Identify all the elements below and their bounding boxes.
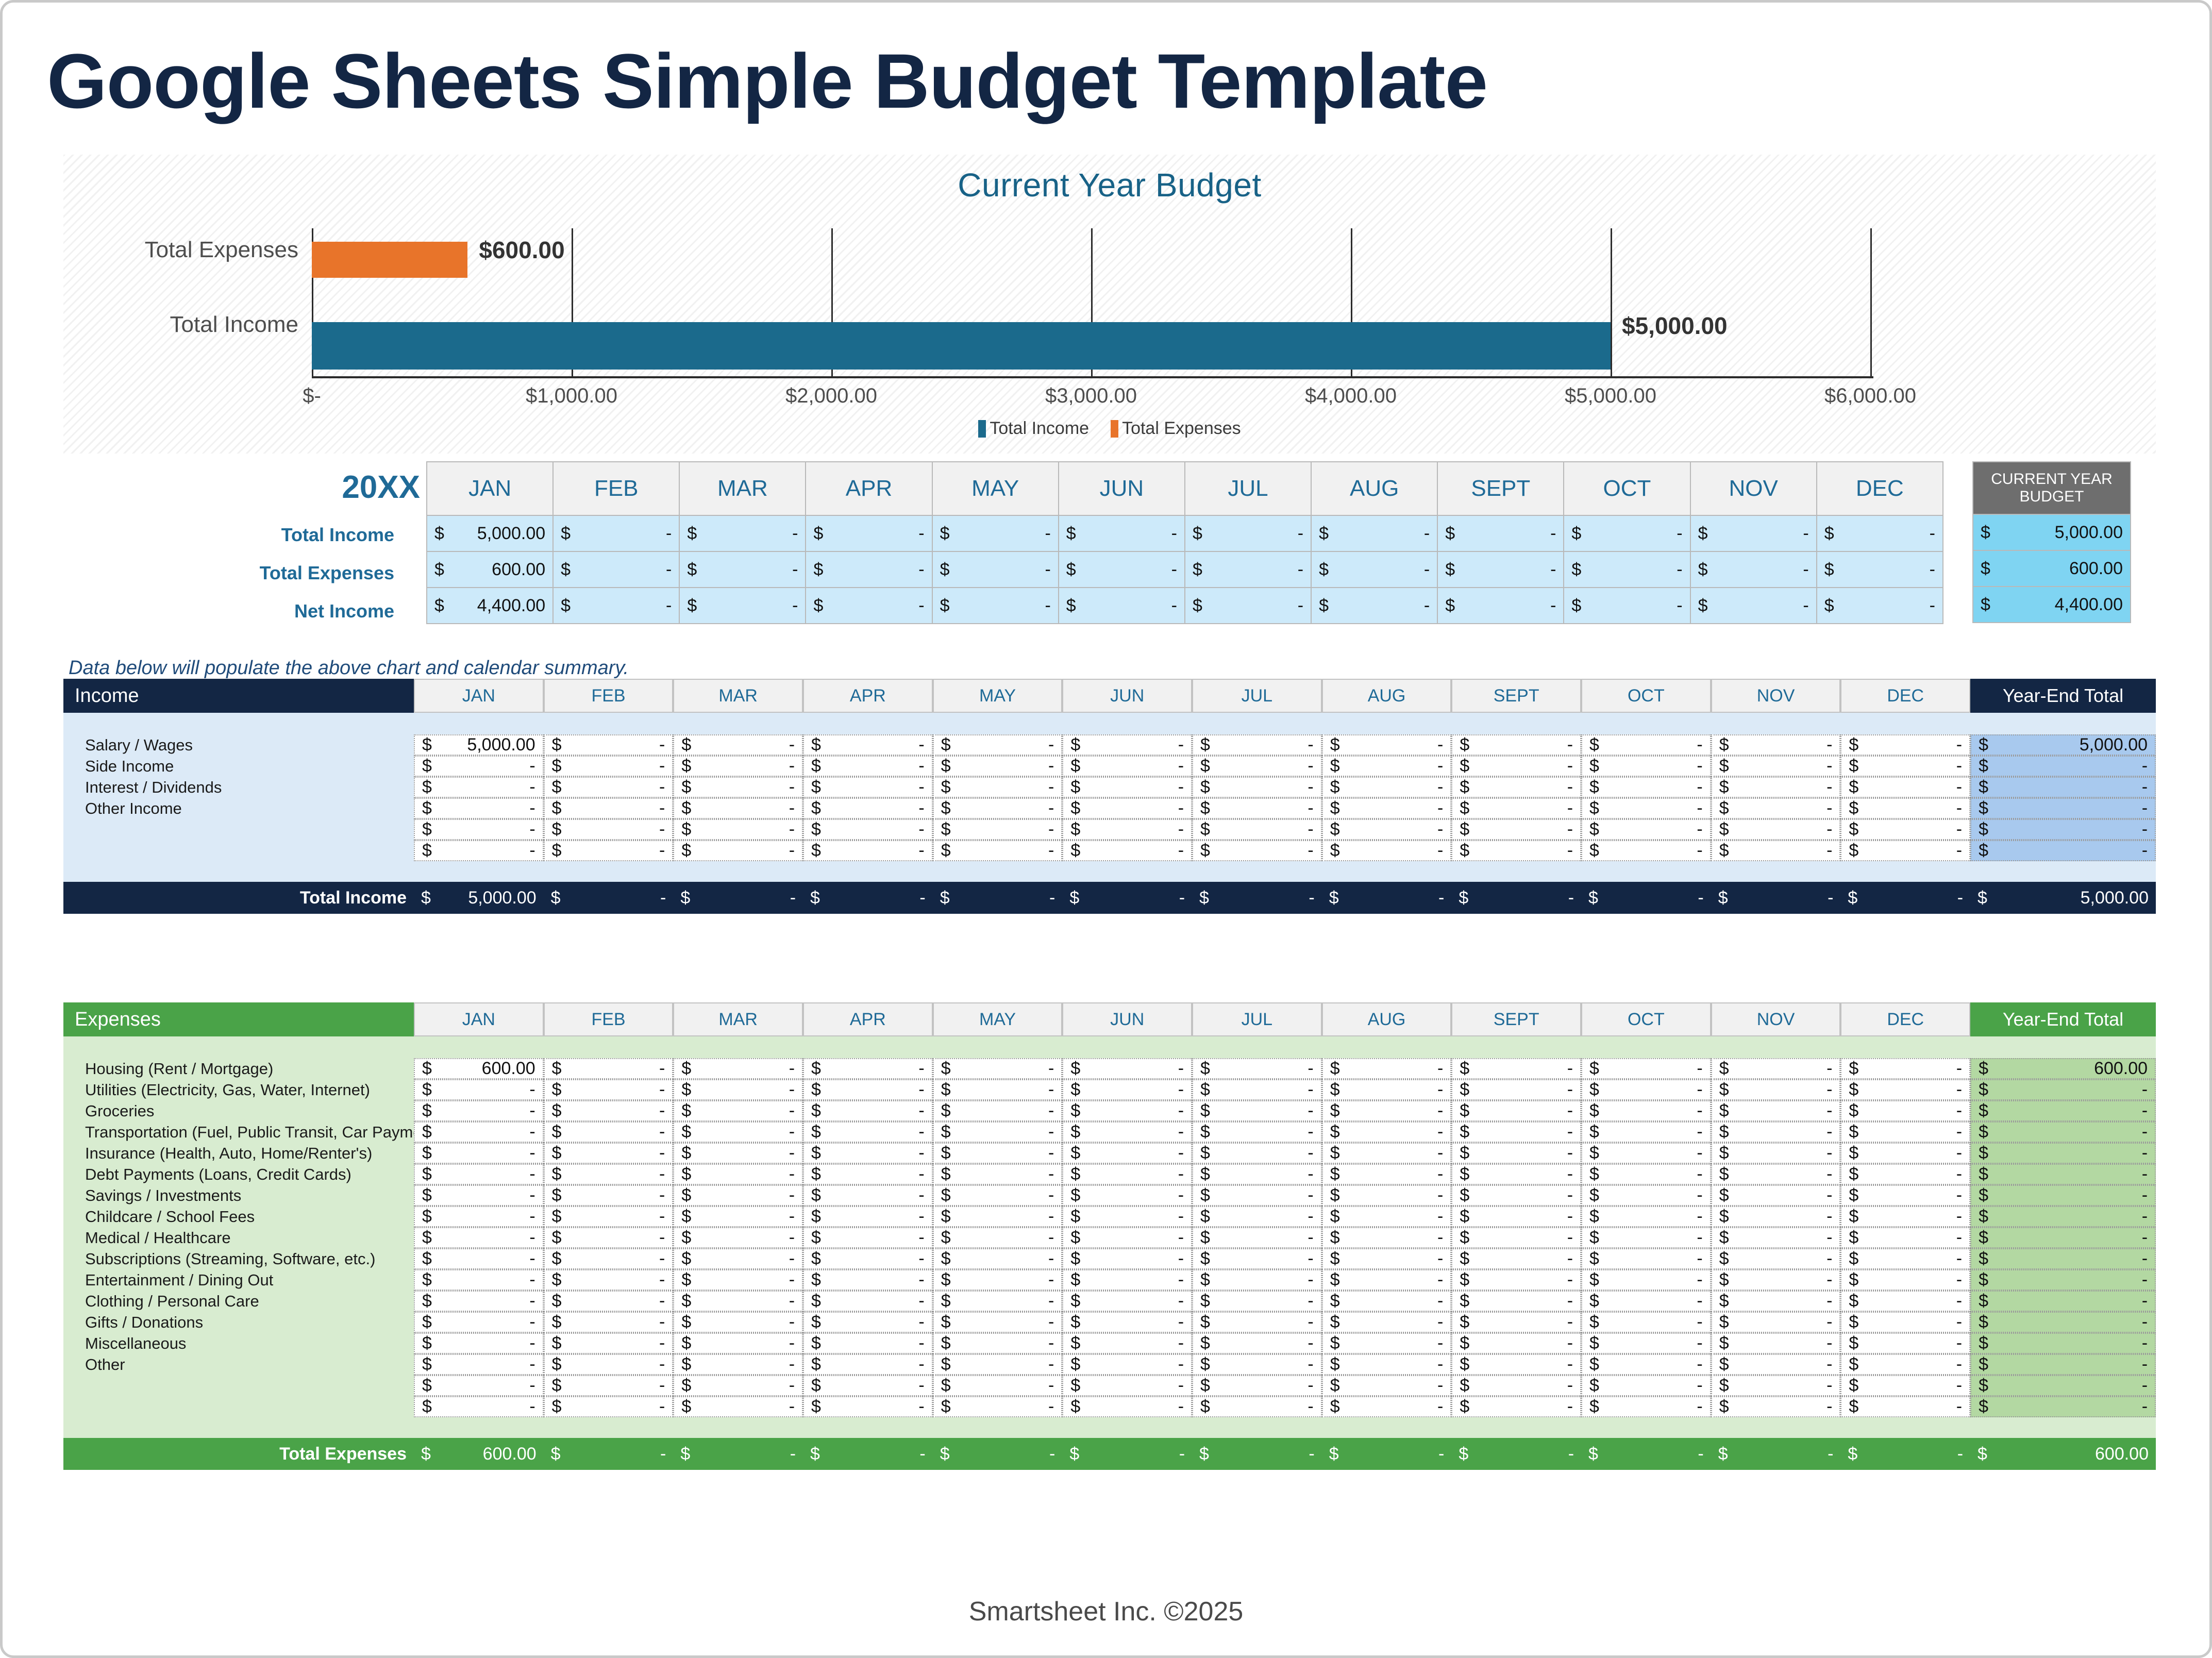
- summary-cell[interactable]: $-: [1437, 551, 1564, 588]
- expenses-month-cell[interactable]: $-: [673, 1206, 803, 1227]
- expenses-month-cell[interactable]: $-: [544, 1312, 674, 1333]
- summary-cell[interactable]: $-: [1817, 551, 1943, 588]
- expenses-month-cell[interactable]: $-: [933, 1333, 1063, 1354]
- expenses-month-cell[interactable]: $-: [414, 1248, 544, 1269]
- income-month-cell[interactable]: $-: [1451, 756, 1581, 777]
- expenses-month-cell[interactable]: $-: [1322, 1058, 1452, 1079]
- expenses-month-cell[interactable]: $-: [1451, 1312, 1581, 1333]
- expenses-month-cell[interactable]: $-: [673, 1291, 803, 1312]
- summary-cell[interactable]: $-: [1817, 515, 1943, 551]
- summary-cell[interactable]: $5,000.00: [427, 515, 553, 551]
- expenses-month-cell[interactable]: $-: [673, 1143, 803, 1164]
- expenses-month-cell[interactable]: $-: [803, 1269, 933, 1291]
- expenses-month-cell[interactable]: $-: [544, 1206, 674, 1227]
- expenses-month-cell[interactable]: $-: [1062, 1121, 1192, 1143]
- expenses-month-cell[interactable]: $-: [803, 1396, 933, 1417]
- expenses-month-cell[interactable]: $-: [1711, 1248, 1841, 1269]
- expenses-month-cell[interactable]: $-: [1062, 1333, 1192, 1354]
- expenses-month-cell[interactable]: $-: [1581, 1333, 1711, 1354]
- expenses-month-cell[interactable]: $-: [803, 1206, 933, 1227]
- income-month-cell[interactable]: $-: [1192, 756, 1322, 777]
- expenses-month-cell[interactable]: $-: [1322, 1227, 1452, 1248]
- expenses-month-cell[interactable]: $-: [673, 1354, 803, 1375]
- expenses-month-cell[interactable]: $-: [1451, 1227, 1581, 1248]
- summary-cell[interactable]: $-: [679, 551, 806, 588]
- summary-cell[interactable]: $-: [1564, 588, 1690, 624]
- expenses-month-cell[interactable]: $-: [1192, 1164, 1322, 1185]
- expenses-month-cell[interactable]: $-: [544, 1121, 674, 1143]
- expenses-month-cell[interactable]: $-: [1451, 1375, 1581, 1396]
- income-month-cell[interactable]: $-: [1062, 798, 1192, 819]
- income-month-cell[interactable]: $-: [1322, 777, 1452, 798]
- expenses-month-cell[interactable]: $-: [1840, 1143, 1970, 1164]
- expenses-month-cell[interactable]: $-: [1322, 1248, 1452, 1269]
- expenses-month-cell[interactable]: $-: [673, 1312, 803, 1333]
- expenses-month-cell[interactable]: $-: [1581, 1312, 1711, 1333]
- expenses-month-cell[interactable]: $-: [544, 1227, 674, 1248]
- expenses-month-cell[interactable]: $-: [933, 1079, 1063, 1100]
- expenses-month-cell[interactable]: $-: [1711, 1143, 1841, 1164]
- summary-cell[interactable]: $-: [1059, 515, 1185, 551]
- income-month-cell[interactable]: $-: [1711, 756, 1841, 777]
- expenses-month-cell[interactable]: $-: [1192, 1121, 1322, 1143]
- expenses-month-cell[interactable]: $-: [1322, 1100, 1452, 1121]
- income-month-cell[interactable]: $-: [1322, 798, 1452, 819]
- expenses-month-cell[interactable]: $-: [414, 1269, 544, 1291]
- income-month-cell[interactable]: $-: [673, 756, 803, 777]
- expenses-month-cell[interactable]: $-: [1451, 1269, 1581, 1291]
- income-month-cell[interactable]: $-: [673, 777, 803, 798]
- income-month-cell[interactable]: $-: [1840, 734, 1970, 756]
- expenses-month-cell[interactable]: $-: [1581, 1079, 1711, 1100]
- summary-cell[interactable]: $-: [679, 588, 806, 624]
- summary-cell[interactable]: $-: [1564, 551, 1690, 588]
- expenses-month-cell[interactable]: $-: [1322, 1354, 1452, 1375]
- summary-cell[interactable]: $-: [1311, 515, 1437, 551]
- summary-cell[interactable]: $-: [1437, 515, 1564, 551]
- expenses-month-cell[interactable]: $-: [933, 1312, 1063, 1333]
- expenses-month-cell[interactable]: $-: [1840, 1375, 1970, 1396]
- expenses-month-cell[interactable]: $-: [1062, 1206, 1192, 1227]
- expenses-month-cell[interactable]: $-: [1062, 1143, 1192, 1164]
- expenses-month-cell[interactable]: $-: [1192, 1079, 1322, 1100]
- expenses-month-cell[interactable]: $-: [1192, 1291, 1322, 1312]
- income-month-cell[interactable]: $-: [544, 819, 674, 840]
- income-month-cell[interactable]: $-: [933, 756, 1063, 777]
- summary-cell[interactable]: $-: [932, 551, 1059, 588]
- expenses-month-cell[interactable]: $-: [1581, 1269, 1711, 1291]
- income-month-cell[interactable]: $-: [1192, 840, 1322, 861]
- income-month-cell[interactable]: $-: [1451, 777, 1581, 798]
- expenses-month-cell[interactable]: $-: [933, 1185, 1063, 1206]
- income-month-cell[interactable]: $-: [803, 756, 933, 777]
- expenses-month-cell[interactable]: $-: [803, 1354, 933, 1375]
- income-month-cell[interactable]: $-: [1322, 840, 1452, 861]
- expenses-month-cell[interactable]: $-: [1711, 1227, 1841, 1248]
- income-month-cell[interactable]: $-: [1840, 798, 1970, 819]
- expenses-month-cell[interactable]: $-: [1192, 1248, 1322, 1269]
- income-month-cell[interactable]: $-: [1581, 840, 1711, 861]
- expenses-month-cell[interactable]: $-: [1192, 1333, 1322, 1354]
- income-month-cell[interactable]: $-: [1192, 819, 1322, 840]
- expenses-month-cell[interactable]: $-: [414, 1354, 544, 1375]
- expenses-month-cell[interactable]: $-: [414, 1185, 544, 1206]
- expenses-month-cell[interactable]: $-: [803, 1248, 933, 1269]
- expenses-month-cell[interactable]: $-: [1581, 1143, 1711, 1164]
- summary-cell[interactable]: $-: [679, 515, 806, 551]
- expenses-month-cell[interactable]: $-: [1322, 1079, 1452, 1100]
- expenses-month-cell[interactable]: $-: [1840, 1312, 1970, 1333]
- income-month-cell[interactable]: $-: [1840, 819, 1970, 840]
- income-month-cell[interactable]: $-: [1581, 819, 1711, 840]
- expenses-month-cell[interactable]: $-: [1322, 1164, 1452, 1185]
- expenses-month-cell[interactable]: $-: [1451, 1058, 1581, 1079]
- expenses-month-cell[interactable]: $-: [803, 1143, 933, 1164]
- expenses-month-cell[interactable]: $-: [1711, 1291, 1841, 1312]
- expenses-month-cell[interactable]: $-: [933, 1227, 1063, 1248]
- income-month-cell[interactable]: $-: [933, 819, 1063, 840]
- expenses-month-cell[interactable]: $-: [1322, 1185, 1452, 1206]
- expenses-month-cell[interactable]: $-: [1322, 1312, 1452, 1333]
- expenses-month-cell[interactable]: $-: [414, 1100, 544, 1121]
- income-month-cell[interactable]: $-: [803, 840, 933, 861]
- income-month-cell[interactable]: $-: [1840, 840, 1970, 861]
- expenses-month-cell[interactable]: $-: [544, 1396, 674, 1417]
- expenses-month-cell[interactable]: $-: [1711, 1164, 1841, 1185]
- expenses-month-cell[interactable]: $-: [544, 1164, 674, 1185]
- summary-cell[interactable]: $-: [1690, 588, 1817, 624]
- summary-cell[interactable]: $-: [1311, 588, 1437, 624]
- summary-cell[interactable]: $-: [553, 588, 679, 624]
- expenses-month-cell[interactable]: $-: [1581, 1164, 1711, 1185]
- expenses-month-cell[interactable]: $-: [1451, 1121, 1581, 1143]
- expenses-month-cell[interactable]: $-: [1840, 1100, 1970, 1121]
- income-month-cell[interactable]: $-: [803, 819, 933, 840]
- expenses-month-cell[interactable]: $-: [673, 1396, 803, 1417]
- income-month-cell[interactable]: $-: [1840, 756, 1970, 777]
- expenses-month-cell[interactable]: $-: [1840, 1291, 1970, 1312]
- expenses-month-cell[interactable]: $-: [1451, 1185, 1581, 1206]
- income-month-cell[interactable]: $-: [1840, 777, 1970, 798]
- expenses-month-cell[interactable]: $-: [673, 1227, 803, 1248]
- expenses-month-cell[interactable]: $-: [1062, 1396, 1192, 1417]
- expenses-month-cell[interactable]: $-: [1062, 1312, 1192, 1333]
- expenses-month-cell[interactable]: $-: [933, 1375, 1063, 1396]
- expenses-month-cell[interactable]: $-: [544, 1248, 674, 1269]
- expenses-month-cell[interactable]: $-: [414, 1143, 544, 1164]
- summary-cell[interactable]: $-: [553, 551, 679, 588]
- expenses-month-cell[interactable]: $-: [803, 1058, 933, 1079]
- summary-cell[interactable]: $-: [1564, 515, 1690, 551]
- expenses-month-cell[interactable]: $-: [1711, 1121, 1841, 1143]
- income-month-cell[interactable]: $-: [414, 840, 544, 861]
- expenses-month-cell[interactable]: $-: [544, 1333, 674, 1354]
- expenses-month-cell[interactable]: $-: [414, 1396, 544, 1417]
- income-month-cell[interactable]: $-: [1711, 798, 1841, 819]
- expenses-month-cell[interactable]: $-: [803, 1375, 933, 1396]
- summary-cell[interactable]: $-: [1437, 588, 1564, 624]
- expenses-month-cell[interactable]: $-: [414, 1227, 544, 1248]
- income-month-cell[interactable]: $-: [414, 777, 544, 798]
- summary-cell[interactable]: $-: [1059, 588, 1185, 624]
- expenses-month-cell[interactable]: $-: [1581, 1100, 1711, 1121]
- expenses-month-cell[interactable]: $-: [544, 1269, 674, 1291]
- income-month-cell[interactable]: $-: [1062, 734, 1192, 756]
- summary-cell[interactable]: $-: [1817, 588, 1943, 624]
- income-month-cell[interactable]: $-: [803, 777, 933, 798]
- expenses-month-cell[interactable]: $-: [414, 1375, 544, 1396]
- summary-cell[interactable]: $-: [1185, 551, 1311, 588]
- expenses-month-cell[interactable]: $-: [673, 1375, 803, 1396]
- expenses-month-cell[interactable]: $-: [1840, 1227, 1970, 1248]
- expenses-month-cell[interactable]: $-: [1711, 1100, 1841, 1121]
- expenses-month-cell[interactable]: $-: [803, 1333, 933, 1354]
- expenses-month-cell[interactable]: $-: [544, 1354, 674, 1375]
- expenses-month-cell[interactable]: $-: [1451, 1396, 1581, 1417]
- expenses-month-cell[interactable]: $-: [1840, 1248, 1970, 1269]
- expenses-month-cell[interactable]: $-: [673, 1333, 803, 1354]
- expenses-month-cell[interactable]: $-: [1840, 1333, 1970, 1354]
- expenses-month-cell[interactable]: $-: [414, 1079, 544, 1100]
- expenses-month-cell[interactable]: $-: [1062, 1079, 1192, 1100]
- expenses-month-cell[interactable]: $-: [1192, 1058, 1322, 1079]
- expenses-month-cell[interactable]: $-: [544, 1100, 674, 1121]
- expenses-month-cell[interactable]: $-: [1192, 1396, 1322, 1417]
- income-month-cell[interactable]: $-: [1192, 734, 1322, 756]
- income-month-cell[interactable]: $-: [1062, 819, 1192, 840]
- expenses-month-cell[interactable]: $-: [414, 1333, 544, 1354]
- summary-cell[interactable]: $600.00: [427, 551, 553, 588]
- expenses-month-cell[interactable]: $-: [1451, 1164, 1581, 1185]
- income-month-cell[interactable]: $-: [1062, 777, 1192, 798]
- expenses-month-cell[interactable]: $-: [1322, 1375, 1452, 1396]
- expenses-month-cell[interactable]: $-: [544, 1058, 674, 1079]
- income-month-cell[interactable]: $-: [1451, 840, 1581, 861]
- expenses-month-cell[interactable]: $-: [803, 1185, 933, 1206]
- income-month-cell[interactable]: $-: [1581, 777, 1711, 798]
- expenses-month-cell[interactable]: $-: [1840, 1396, 1970, 1417]
- income-month-cell[interactable]: $-: [933, 777, 1063, 798]
- expenses-month-cell[interactable]: $-: [1581, 1248, 1711, 1269]
- expenses-month-cell[interactable]: $-: [1322, 1269, 1452, 1291]
- income-month-cell[interactable]: $-: [673, 840, 803, 861]
- expenses-month-cell[interactable]: $-: [933, 1206, 1063, 1227]
- income-month-cell[interactable]: $-: [1581, 734, 1711, 756]
- expenses-month-cell[interactable]: $-: [673, 1185, 803, 1206]
- expenses-month-cell[interactable]: $-: [1581, 1058, 1711, 1079]
- expenses-month-cell[interactable]: $-: [544, 1079, 674, 1100]
- expenses-month-cell[interactable]: $-: [544, 1185, 674, 1206]
- expenses-month-cell[interactable]: $-: [1451, 1291, 1581, 1312]
- expenses-month-cell[interactable]: $-: [803, 1164, 933, 1185]
- expenses-month-cell[interactable]: $-: [1322, 1121, 1452, 1143]
- expenses-month-cell[interactable]: $-: [1711, 1333, 1841, 1354]
- income-month-cell[interactable]: $-: [414, 819, 544, 840]
- expenses-month-cell[interactable]: $-: [1581, 1375, 1711, 1396]
- income-month-cell[interactable]: $-: [1451, 819, 1581, 840]
- expenses-month-cell[interactable]: $-: [1581, 1396, 1711, 1417]
- summary-cell[interactable]: $-: [1690, 551, 1817, 588]
- expenses-month-cell[interactable]: $-: [1711, 1058, 1841, 1079]
- expenses-month-cell[interactable]: $-: [933, 1121, 1063, 1143]
- expenses-month-cell[interactable]: $-: [933, 1354, 1063, 1375]
- income-month-cell[interactable]: $-: [1062, 840, 1192, 861]
- expenses-month-cell[interactable]: $-: [933, 1164, 1063, 1185]
- expenses-month-cell[interactable]: $-: [673, 1248, 803, 1269]
- expenses-month-cell[interactable]: $-: [414, 1121, 544, 1143]
- summary-cell[interactable]: $-: [932, 515, 1059, 551]
- expenses-month-cell[interactable]: $-: [803, 1100, 933, 1121]
- expenses-month-cell[interactable]: $-: [1192, 1100, 1322, 1121]
- income-month-cell[interactable]: $-: [1581, 798, 1711, 819]
- income-month-cell[interactable]: $-: [544, 840, 674, 861]
- expenses-month-cell[interactable]: $-: [1840, 1206, 1970, 1227]
- expenses-month-cell[interactable]: $-: [1840, 1079, 1970, 1100]
- summary-cell[interactable]: $-: [1311, 551, 1437, 588]
- income-month-cell[interactable]: $-: [414, 756, 544, 777]
- summary-cell[interactable]: $-: [806, 515, 932, 551]
- expenses-month-cell[interactable]: $-: [1062, 1291, 1192, 1312]
- summary-cell[interactable]: $-: [1059, 551, 1185, 588]
- expenses-month-cell[interactable]: $-: [1062, 1058, 1192, 1079]
- expenses-month-cell[interactable]: $-: [1581, 1291, 1711, 1312]
- income-month-cell[interactable]: $-: [1711, 777, 1841, 798]
- income-month-cell[interactable]: $-: [544, 798, 674, 819]
- income-month-cell[interactable]: $-: [1192, 798, 1322, 819]
- expenses-month-cell[interactable]: $-: [933, 1143, 1063, 1164]
- expenses-month-cell[interactable]: $-: [1062, 1354, 1192, 1375]
- income-month-cell[interactable]: $-: [933, 734, 1063, 756]
- expenses-month-cell[interactable]: $-: [933, 1269, 1063, 1291]
- expenses-month-cell[interactable]: $-: [1840, 1058, 1970, 1079]
- income-month-cell[interactable]: $-: [544, 777, 674, 798]
- expenses-month-cell[interactable]: $-: [1062, 1100, 1192, 1121]
- expenses-month-cell[interactable]: $-: [544, 1291, 674, 1312]
- income-month-cell[interactable]: $-: [544, 734, 674, 756]
- expenses-month-cell[interactable]: $-: [1451, 1079, 1581, 1100]
- expenses-month-cell[interactable]: $-: [1711, 1375, 1841, 1396]
- expenses-month-cell[interactable]: $-: [1062, 1269, 1192, 1291]
- expenses-month-cell[interactable]: $-: [1840, 1164, 1970, 1185]
- expenses-month-cell[interactable]: $-: [1192, 1312, 1322, 1333]
- summary-cell[interactable]: $-: [553, 515, 679, 551]
- expenses-month-cell[interactable]: $-: [1322, 1396, 1452, 1417]
- expenses-month-cell[interactable]: $-: [1062, 1227, 1192, 1248]
- expenses-month-cell[interactable]: $-: [933, 1100, 1063, 1121]
- income-month-cell[interactable]: $-: [1322, 756, 1452, 777]
- expenses-month-cell[interactable]: $-: [1322, 1333, 1452, 1354]
- expenses-month-cell[interactable]: $-: [1840, 1185, 1970, 1206]
- expenses-month-cell[interactable]: $-: [1840, 1354, 1970, 1375]
- expenses-month-cell[interactable]: $-: [1711, 1312, 1841, 1333]
- expenses-month-cell[interactable]: $-: [673, 1164, 803, 1185]
- expenses-month-cell[interactable]: $-: [1840, 1269, 1970, 1291]
- income-month-cell[interactable]: $-: [673, 734, 803, 756]
- expenses-month-cell[interactable]: $-: [673, 1079, 803, 1100]
- expenses-month-cell[interactable]: $-: [1451, 1333, 1581, 1354]
- expenses-month-cell[interactable]: $-: [1192, 1227, 1322, 1248]
- expenses-month-cell[interactable]: $-: [803, 1121, 933, 1143]
- income-month-cell[interactable]: $-: [544, 756, 674, 777]
- expenses-month-cell[interactable]: $-: [933, 1291, 1063, 1312]
- expenses-month-cell[interactable]: $-: [414, 1206, 544, 1227]
- summary-cell[interactable]: $4,400.00: [427, 588, 553, 624]
- expenses-month-cell[interactable]: $-: [414, 1312, 544, 1333]
- summary-cell[interactable]: $-: [1185, 515, 1311, 551]
- expenses-month-cell[interactable]: $-: [1711, 1354, 1841, 1375]
- summary-cell[interactable]: $-: [1185, 588, 1311, 624]
- summary-cell[interactable]: $-: [932, 588, 1059, 624]
- expenses-month-cell[interactable]: $-: [673, 1121, 803, 1143]
- expenses-month-cell[interactable]: $-: [1192, 1185, 1322, 1206]
- income-month-cell[interactable]: $-: [1322, 734, 1452, 756]
- expenses-month-cell[interactable]: $-: [1711, 1185, 1841, 1206]
- expenses-month-cell[interactable]: $-: [1062, 1185, 1192, 1206]
- expenses-month-cell[interactable]: $-: [1711, 1079, 1841, 1100]
- expenses-month-cell[interactable]: $-: [1451, 1206, 1581, 1227]
- expenses-month-cell[interactable]: $-: [1581, 1121, 1711, 1143]
- expenses-month-cell[interactable]: $-: [1192, 1375, 1322, 1396]
- expenses-month-cell[interactable]: $-: [1451, 1354, 1581, 1375]
- income-month-cell[interactable]: $-: [933, 840, 1063, 861]
- summary-cell[interactable]: $-: [806, 551, 932, 588]
- expenses-month-cell[interactable]: $-: [803, 1227, 933, 1248]
- expenses-month-cell[interactable]: $-: [1581, 1185, 1711, 1206]
- expenses-month-cell[interactable]: $-: [1451, 1100, 1581, 1121]
- expenses-month-cell[interactable]: $-: [1581, 1227, 1711, 1248]
- expenses-month-cell[interactable]: $-: [1711, 1269, 1841, 1291]
- expenses-month-cell[interactable]: $-: [1451, 1248, 1581, 1269]
- income-month-cell[interactable]: $-: [1451, 734, 1581, 756]
- expenses-month-cell[interactable]: $-: [673, 1100, 803, 1121]
- income-month-cell[interactable]: $-: [1062, 756, 1192, 777]
- income-month-cell[interactable]: $-: [414, 798, 544, 819]
- expenses-month-cell[interactable]: $-: [1192, 1269, 1322, 1291]
- income-month-cell[interactable]: $5,000.00: [414, 734, 544, 756]
- expenses-month-cell[interactable]: $-: [1322, 1291, 1452, 1312]
- expenses-month-cell[interactable]: $-: [1062, 1248, 1192, 1269]
- income-month-cell[interactable]: $-: [803, 734, 933, 756]
- expenses-month-cell[interactable]: $-: [1451, 1143, 1581, 1164]
- expenses-month-cell[interactable]: $600.00: [414, 1058, 544, 1079]
- expenses-month-cell[interactable]: $-: [544, 1375, 674, 1396]
- expenses-month-cell[interactable]: $-: [933, 1248, 1063, 1269]
- income-month-cell[interactable]: $-: [673, 798, 803, 819]
- income-month-cell[interactable]: $-: [1192, 777, 1322, 798]
- expenses-month-cell[interactable]: $-: [1322, 1206, 1452, 1227]
- income-month-cell[interactable]: $-: [1711, 734, 1841, 756]
- expenses-month-cell[interactable]: $-: [414, 1291, 544, 1312]
- expenses-month-cell[interactable]: $-: [544, 1143, 674, 1164]
- expenses-month-cell[interactable]: $-: [803, 1291, 933, 1312]
- summary-cell[interactable]: $-: [806, 588, 932, 624]
- income-month-cell[interactable]: $-: [673, 819, 803, 840]
- expenses-month-cell[interactable]: $-: [673, 1058, 803, 1079]
- expenses-month-cell[interactable]: $-: [933, 1396, 1063, 1417]
- expenses-month-cell[interactable]: $-: [1581, 1206, 1711, 1227]
- expenses-month-cell[interactable]: $-: [1581, 1354, 1711, 1375]
- expenses-month-cell[interactable]: $-: [1062, 1164, 1192, 1185]
- income-month-cell[interactable]: $-: [803, 798, 933, 819]
- expenses-month-cell[interactable]: $-: [414, 1164, 544, 1185]
- expenses-month-cell[interactable]: $-: [933, 1058, 1063, 1079]
- income-month-cell[interactable]: $-: [1451, 798, 1581, 819]
- expenses-month-cell[interactable]: $-: [1192, 1354, 1322, 1375]
- expenses-month-cell[interactable]: $-: [1840, 1121, 1970, 1143]
- expenses-month-cell[interactable]: $-: [673, 1269, 803, 1291]
- income-month-cell[interactable]: $-: [1581, 756, 1711, 777]
- income-month-cell[interactable]: $-: [933, 798, 1063, 819]
